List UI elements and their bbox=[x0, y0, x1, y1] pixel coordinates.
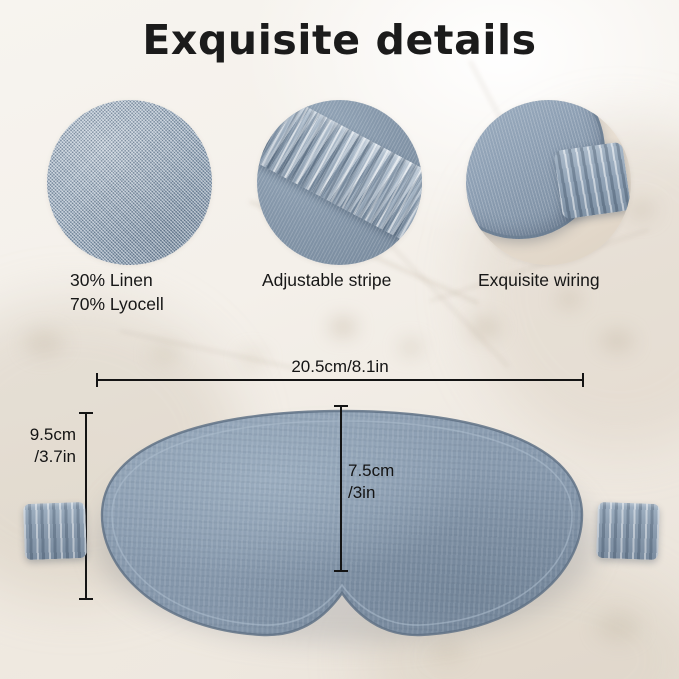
dried-bud-9 bbox=[150, 344, 180, 364]
dimension-cap-bottom bbox=[334, 570, 348, 572]
piped-edge-stitching-icon bbox=[466, 100, 631, 265]
dried-bud-3 bbox=[470, 318, 500, 338]
dimension-label-eye-height: 7.5cm /3in bbox=[348, 460, 438, 505]
product-infographic: Exquisite details 30% Linen 70% Lyocell … bbox=[0, 0, 679, 679]
detail-caption-adjustable-stripe: Adjustable stripe bbox=[262, 268, 482, 292]
dried-bud-8 bbox=[24, 330, 64, 356]
dimension-label-width: 20.5cm/8.1in bbox=[240, 356, 440, 378]
dimension-cap-right bbox=[582, 373, 584, 387]
mask-fabric-surface bbox=[88, 407, 596, 643]
dried-bud-2 bbox=[400, 340, 422, 355]
detail-circle-adjustable-stripe bbox=[257, 100, 422, 265]
page-title: Exquisite details bbox=[0, 16, 679, 64]
ruched-band-shape bbox=[554, 142, 631, 220]
ruched-elastic-strap-icon bbox=[257, 100, 422, 265]
mask-strap-left bbox=[23, 502, 87, 560]
mask-body bbox=[88, 407, 596, 643]
dimension-cap-left bbox=[96, 373, 98, 387]
ruched-band-shape bbox=[257, 100, 422, 250]
woven-linen-swatch-icon bbox=[47, 100, 212, 265]
dimension-cap-top bbox=[334, 405, 348, 407]
dried-bud-4 bbox=[556, 290, 582, 308]
detail-circle-fabric-composition bbox=[47, 100, 212, 265]
detail-caption-exquisite-wiring: Exquisite wiring bbox=[478, 268, 679, 292]
dimension-line-eye-height bbox=[340, 405, 342, 572]
dried-bud-1 bbox=[330, 318, 356, 336]
detail-caption-fabric-composition: 30% Linen 70% Lyocell bbox=[70, 268, 270, 316]
dimension-line-width bbox=[96, 379, 584, 381]
detail-circle-exquisite-wiring bbox=[466, 100, 631, 265]
mask-strap-right bbox=[596, 502, 660, 560]
dried-bud-5 bbox=[600, 330, 634, 352]
